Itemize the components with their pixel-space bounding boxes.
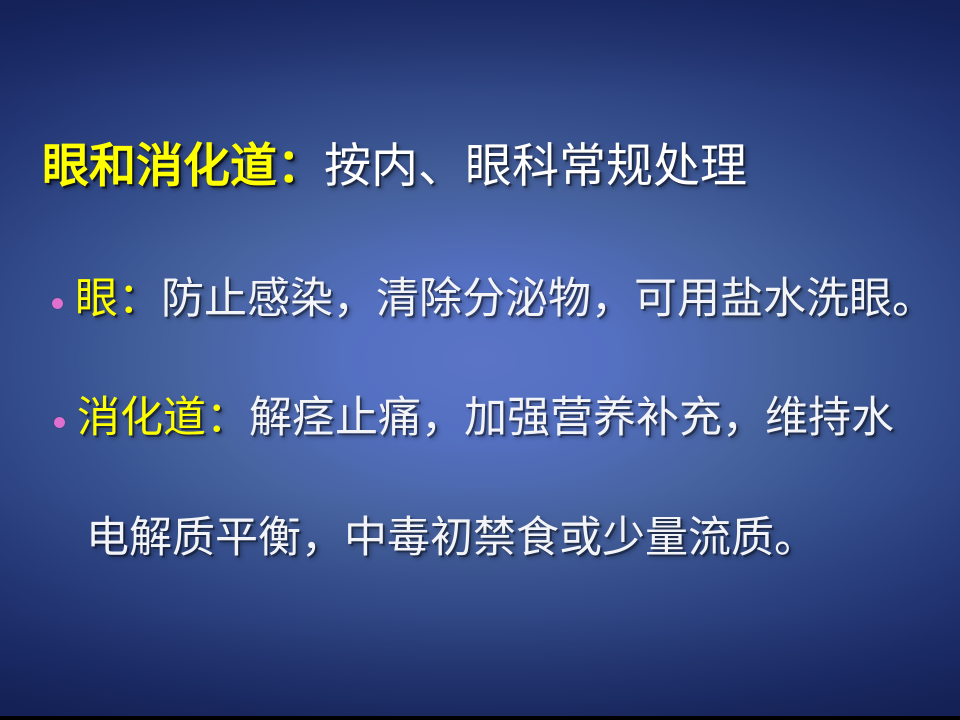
slide-content: 眼和消化道：按内、眼科常规处理 眼：防止感染，清除分泌物，可用盐水洗眼。 消化道… xyxy=(0,0,960,716)
bullet-item-eye-text: 眼：防止感染，清除分泌物，可用盐水洗眼。 xyxy=(75,272,935,326)
title-rest-text: 按内、眼科常规处理 xyxy=(324,139,747,192)
bullet-item-eye-body: 防止感染，清除分泌物，可用盐水洗眼。 xyxy=(161,275,935,323)
bullet-item-eye-label: 眼： xyxy=(75,275,161,323)
bullet-item-digestive-tract-text: 消化道：解痉止痛，加强营养补充，维持水 xyxy=(77,391,894,445)
bullet-item-digestive-tract-body: 解痉止痛，加强营养补充，维持水 xyxy=(249,394,894,442)
bullet-item-digestive-tract-continuation: 电解质平衡，中毒初禁食或少量流质。 xyxy=(86,511,817,565)
presentation-slide: 眼和消化道：按内、眼科常规处理 眼：防止感染，清除分泌物，可用盐水洗眼。 消化道… xyxy=(0,0,960,720)
bullet-item-digestive-tract-label: 消化道： xyxy=(77,394,249,442)
title-highlight-text: 眼和消化道： xyxy=(42,139,324,192)
bullet-item-eye: 眼：防止感染，清除分泌物，可用盐水洗眼。 xyxy=(52,272,935,326)
bullet-dot-icon xyxy=(54,417,65,428)
bullet-dot-icon xyxy=(52,298,63,309)
slide-title: 眼和消化道：按内、眼科常规处理 xyxy=(42,136,747,196)
bullet-item-digestive-tract: 消化道：解痉止痛，加强营养补充，维持水 xyxy=(54,391,894,445)
